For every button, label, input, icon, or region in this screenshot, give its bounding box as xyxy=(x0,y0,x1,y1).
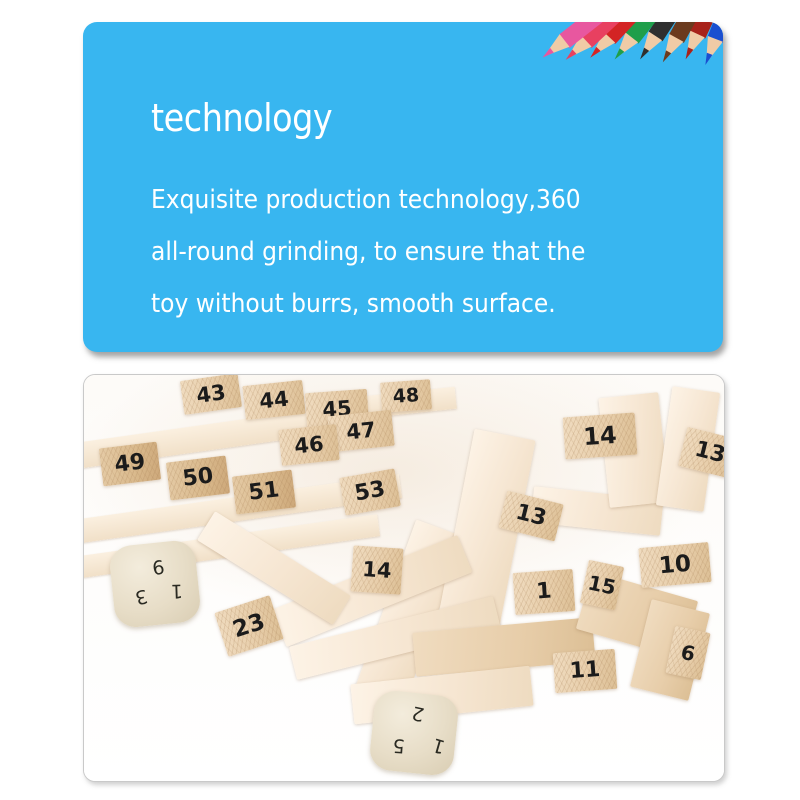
numbered-block: 48 xyxy=(380,379,432,412)
block-number: 1 xyxy=(513,569,576,615)
die-face-1: 1 xyxy=(430,734,447,756)
numbered-block: 46 xyxy=(278,424,339,466)
page-title: technology xyxy=(151,99,332,137)
block-number: 48 xyxy=(380,379,432,412)
block-number: 23 xyxy=(214,595,283,657)
die-face-2: 2 xyxy=(410,702,426,723)
die-face-1: 1 xyxy=(170,581,183,600)
wooden-stacking-blocks-photo: 43444548474649505153141313142311510116 9… xyxy=(84,375,724,781)
numbered-block: 11 xyxy=(553,649,618,693)
numbered-block: 14 xyxy=(350,545,403,594)
block-number: 44 xyxy=(242,380,305,420)
block-number: 51 xyxy=(232,469,296,514)
die-face-5: 5 xyxy=(392,735,405,755)
block-number: 10 xyxy=(638,542,711,588)
block-number: 49 xyxy=(99,442,161,487)
die-face-3: 3 xyxy=(133,585,149,606)
block-number: 43 xyxy=(180,374,242,415)
die-face-9: 9 xyxy=(151,556,166,576)
numbered-block: 49 xyxy=(99,442,161,487)
block-number: 53 xyxy=(339,468,401,515)
description-line-1: Exquisite production technology,360 xyxy=(151,174,637,226)
page-root: technology Exquisite production technolo… xyxy=(0,0,800,800)
colored-pencils-icon xyxy=(519,22,723,141)
description-line-2: all-round grinding, to ensure that the xyxy=(151,226,637,278)
info-card-description: Exquisite production technology,360 all-… xyxy=(151,174,637,330)
block-number: 14 xyxy=(563,413,638,460)
description-line-3: toy without burrs, smooth surface. xyxy=(151,278,637,330)
block-number: 11 xyxy=(553,649,618,693)
numbered-block: 51 xyxy=(232,469,296,514)
die-bottom: 2 5 1 xyxy=(368,689,460,777)
block-number: 46 xyxy=(278,424,339,466)
die-left: 9 3 1 xyxy=(108,539,202,630)
numbered-block: 14 xyxy=(563,413,638,460)
technology-info-card: technology Exquisite production technolo… xyxy=(83,22,723,352)
product-photo-card: 43444548474649505153141313142311510116 9… xyxy=(83,374,725,782)
numbered-block: 50 xyxy=(166,455,230,500)
numbered-block: 44 xyxy=(242,380,305,420)
numbered-block: 23 xyxy=(214,595,283,657)
numbered-block: 53 xyxy=(339,468,401,515)
block-number: 14 xyxy=(350,545,403,594)
numbered-block: 43 xyxy=(180,374,242,415)
numbered-block: 10 xyxy=(638,542,711,588)
numbered-block: 1 xyxy=(513,569,576,615)
block-number: 50 xyxy=(166,455,230,500)
